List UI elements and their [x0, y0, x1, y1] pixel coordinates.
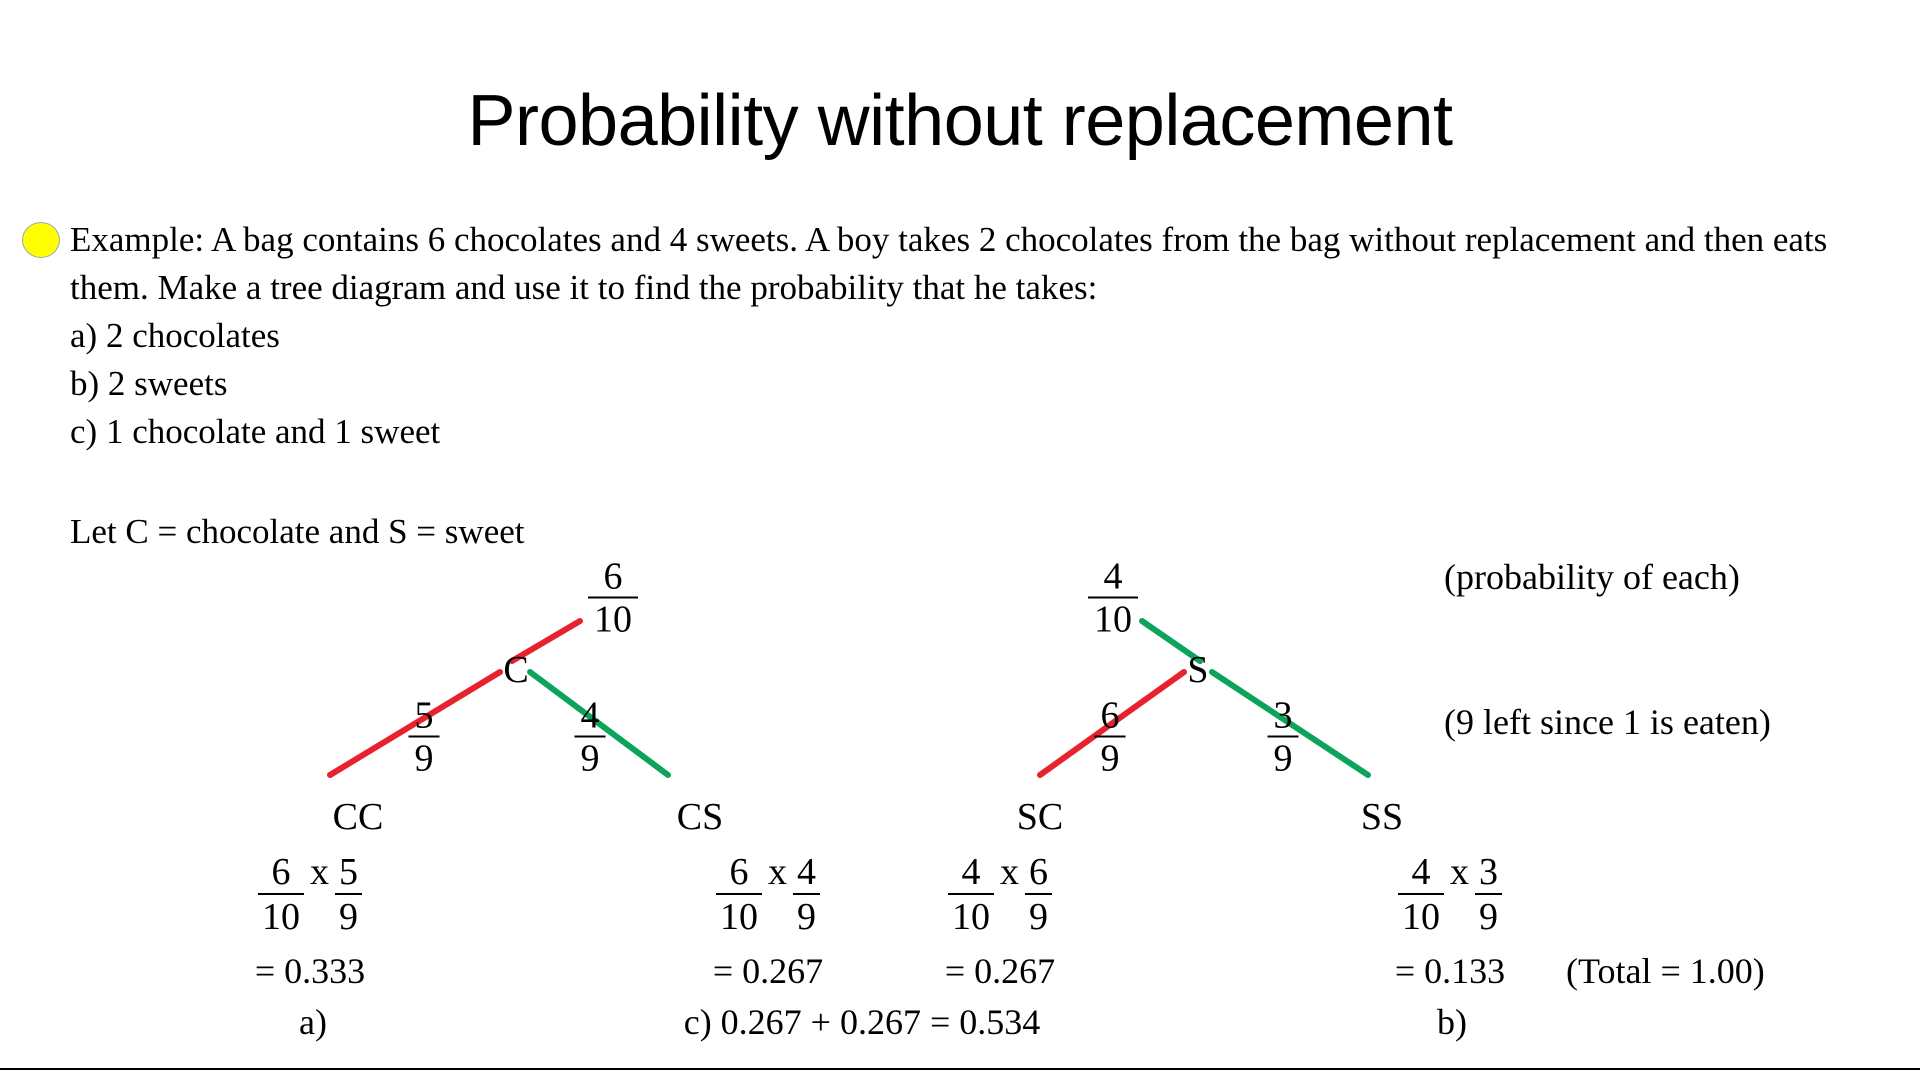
tree-node-C: C — [503, 651, 528, 689]
calculation-CS: 6 10 x 4 9 — [716, 852, 820, 937]
probability-SC-denominator: 9 — [1095, 738, 1126, 778]
calculation-SS: 4 10 x 3 9 — [1398, 852, 1502, 937]
calculation-SS-second-fraction: 3 9 — [1475, 852, 1502, 937]
calculation-SC-f2-den: 9 — [1025, 895, 1052, 937]
probability-S-denominator: 10 — [1088, 599, 1138, 639]
calculation-SS-first-fraction: 4 10 — [1398, 852, 1444, 937]
probability-S-numerator: 4 — [1088, 558, 1138, 599]
slide-canvas: Probability without replacement Example:… — [0, 0, 1920, 1080]
note-nine-left: (9 left since 1 is eaten) — [1444, 703, 1771, 741]
calculation-CS-f1-num: 6 — [716, 852, 762, 895]
result-CC: = 0.333 — [255, 952, 365, 990]
calculation-SC-operator: x — [994, 852, 1025, 892]
note-probability-of-each: (probability of each) — [1444, 558, 1740, 596]
probability-CC-numerator: 5 — [409, 697, 440, 738]
calculation-CC-f2-den: 9 — [335, 895, 362, 937]
definition-line: Let C = chocolate and S = sweet — [70, 508, 525, 556]
note-total: (Total = 1.00) — [1566, 952, 1765, 990]
question-b: b) 2 sweets — [70, 360, 1870, 408]
calculation-CC-f1-num: 6 — [258, 852, 304, 895]
calculation-CS-f2-den: 9 — [793, 895, 820, 937]
question-a: a) 2 chocolates — [70, 312, 1870, 360]
calculation-CS-f1-den: 10 — [716, 895, 762, 937]
yellow-circle-bullet-icon — [22, 222, 60, 258]
question-c: c) 1 chocolate and 1 sweet — [70, 408, 1870, 456]
calculation-SS-f2-num: 3 — [1475, 852, 1502, 895]
calculation-SC-f1-den: 10 — [948, 895, 994, 937]
calculation-SC-first-fraction: 4 10 — [948, 852, 994, 937]
calculation-SC-f1-num: 4 — [948, 852, 994, 895]
tree-node-CC: CC — [333, 798, 384, 836]
page-title: Probability without replacement — [0, 82, 1920, 160]
answer-label-a: a) — [299, 1003, 327, 1041]
calculation-CC-f1-den: 10 — [258, 895, 304, 937]
calculation-SS-f1-num: 4 — [1398, 852, 1444, 895]
probability-CS-denominator: 9 — [575, 738, 606, 778]
result-SS: = 0.133 — [1395, 952, 1505, 990]
tree-node-SS: SS — [1361, 798, 1403, 836]
probability-CS-numerator: 4 — [575, 697, 606, 738]
bottom-divider — [0, 1068, 1920, 1070]
calculation-SS-f1-den: 10 — [1398, 895, 1444, 937]
calculation-CS-operator: x — [762, 852, 793, 892]
calculation-SS-operator: x — [1444, 852, 1475, 892]
calculation-CS-f2-num: 4 — [793, 852, 820, 895]
probability-C-numerator: 6 — [588, 558, 638, 599]
tree-node-CS: CS — [677, 798, 723, 836]
calculation-CC-second-fraction: 5 9 — [335, 852, 362, 937]
probability-SS-fraction: 3 9 — [1268, 697, 1299, 778]
calculation-SC-second-fraction: 6 9 — [1025, 852, 1052, 937]
calculation-CC: 6 10 x 5 9 — [258, 852, 362, 937]
result-SC: = 0.267 — [945, 952, 1055, 990]
example-paragraph: Example: A bag contains 6 chocolates and… — [70, 216, 1840, 312]
probability-C-denominator: 10 — [588, 599, 638, 639]
calculation-CC-operator: x — [304, 852, 335, 892]
tree-node-S: S — [1187, 651, 1208, 689]
tree-node-SC: SC — [1017, 798, 1063, 836]
probability-CC-denominator: 9 — [409, 738, 440, 778]
calculation-CS-second-fraction: 4 9 — [793, 852, 820, 937]
calculation-SC: 4 10 x 6 9 — [948, 852, 1052, 937]
calculation-SC-f2-num: 6 — [1025, 852, 1052, 895]
probability-C-fraction: 6 10 — [588, 558, 638, 639]
answer-label-b: b) — [1437, 1003, 1467, 1041]
answer-label-c: c) 0.267 + 0.267 = 0.534 — [684, 1003, 1041, 1041]
example-body: Example: A bag contains 6 chocolates and… — [70, 216, 1870, 456]
calculation-CC-first-fraction: 6 10 — [258, 852, 304, 937]
result-CS: = 0.267 — [713, 952, 823, 990]
calculation-SS-f2-den: 9 — [1475, 895, 1502, 937]
calculation-CC-f2-num: 5 — [335, 852, 362, 895]
probability-SC-numerator: 6 — [1095, 697, 1126, 738]
probability-SC-fraction: 6 9 — [1095, 697, 1126, 778]
probability-CC-fraction: 5 9 — [409, 697, 440, 778]
probability-S-fraction: 4 10 — [1088, 558, 1138, 639]
probability-CS-fraction: 4 9 — [575, 697, 606, 778]
probability-SS-numerator: 3 — [1268, 697, 1299, 738]
calculation-CS-first-fraction: 6 10 — [716, 852, 762, 937]
probability-SS-denominator: 9 — [1268, 738, 1299, 778]
